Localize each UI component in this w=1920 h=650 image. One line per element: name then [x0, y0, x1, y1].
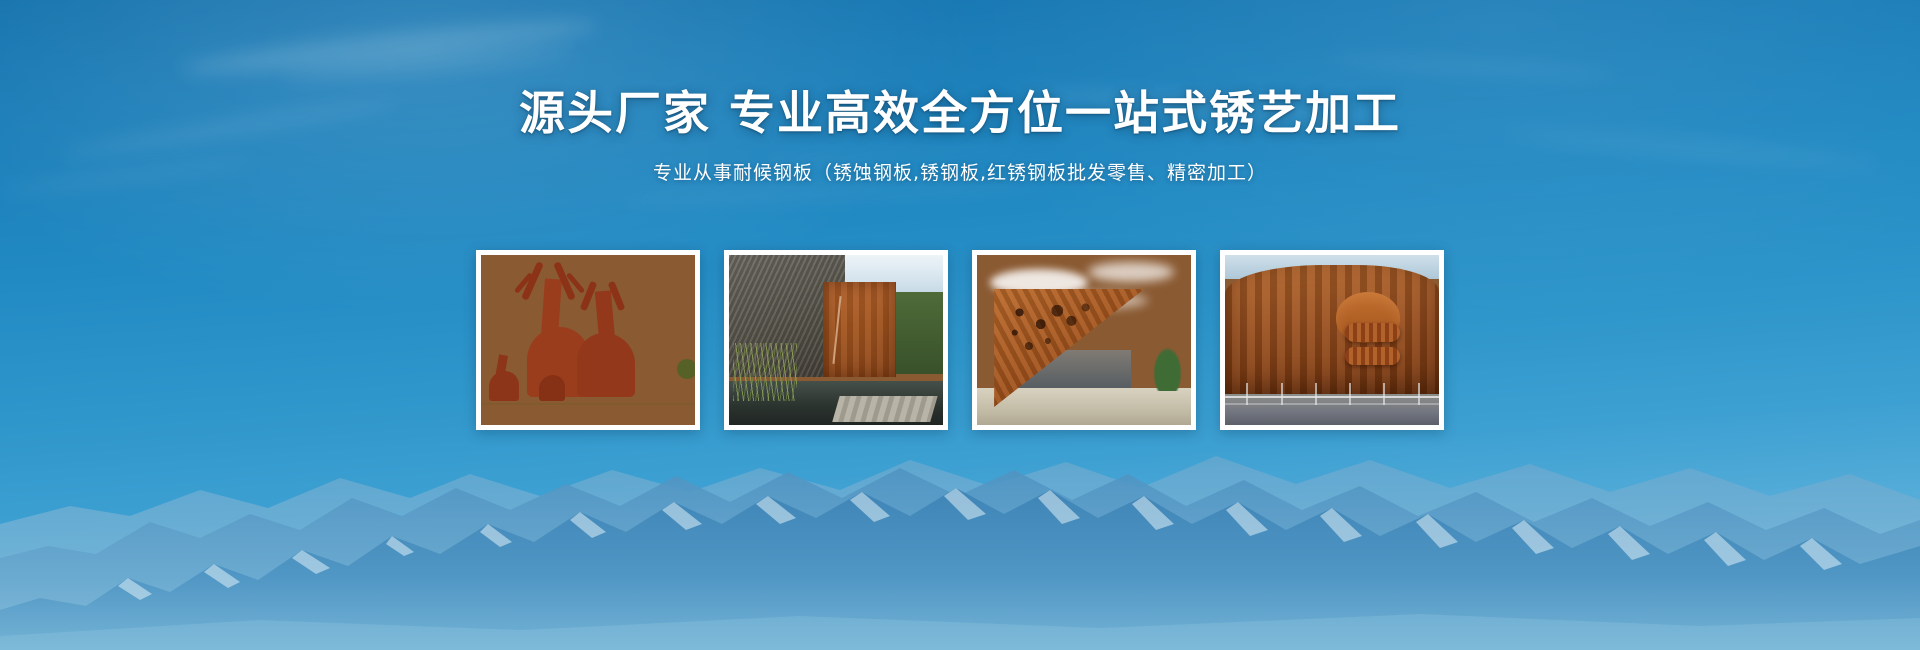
cylindrical-pod: [1345, 323, 1401, 342]
deer-body: [577, 333, 635, 397]
page-subtitle: 专业从事耐候钢板（锈蚀钢板,锈钢板,红锈钢板批发零售、精密加工）: [0, 158, 1920, 185]
gallery-item-corten-deer-sculpture[interactable]: [476, 250, 700, 430]
page-title: 源头厂家 专业高效全方位一站式锈艺加工: [0, 88, 1920, 139]
tree: [677, 359, 695, 379]
corten-deer-sculpture-image: [481, 255, 695, 425]
railing-post: [1281, 383, 1283, 405]
handrail: [1225, 396, 1439, 398]
fawn-body: [539, 375, 565, 401]
field-fence: [481, 403, 695, 405]
stone-deck: [832, 396, 938, 422]
railing-post: [1383, 383, 1385, 405]
plaza-ground: [1225, 394, 1439, 425]
deer-neck: [595, 290, 615, 341]
tree: [1153, 347, 1183, 391]
hero-banner: 源头厂家 专业高效全方位一站式锈艺加工 专业从事耐候钢板（锈蚀钢板,锈钢板,红锈…: [0, 0, 1920, 650]
railing-post: [1349, 383, 1351, 405]
hedge: [892, 292, 943, 374]
gallery-item-corten-garden-wall[interactable]: [724, 250, 948, 430]
cylindrical-pod: [1345, 347, 1401, 366]
gallery-item-corten-curved-facade[interactable]: [1220, 250, 1444, 430]
railing-post: [1246, 383, 1248, 405]
ornamental-grass: [733, 343, 797, 401]
corten-curved-wall: [1225, 265, 1439, 398]
corten-garden-wall-image: [729, 255, 943, 425]
gallery-item-corten-triangular-pavilion[interactable]: [972, 250, 1196, 430]
corten-triangular-pavilion-image: [977, 255, 1191, 425]
railing-post: [1315, 383, 1317, 405]
cloud: [1088, 262, 1174, 282]
product-gallery: [0, 250, 1920, 430]
railing-post: [1418, 383, 1420, 405]
corten-curved-facade-image: [1225, 255, 1439, 425]
